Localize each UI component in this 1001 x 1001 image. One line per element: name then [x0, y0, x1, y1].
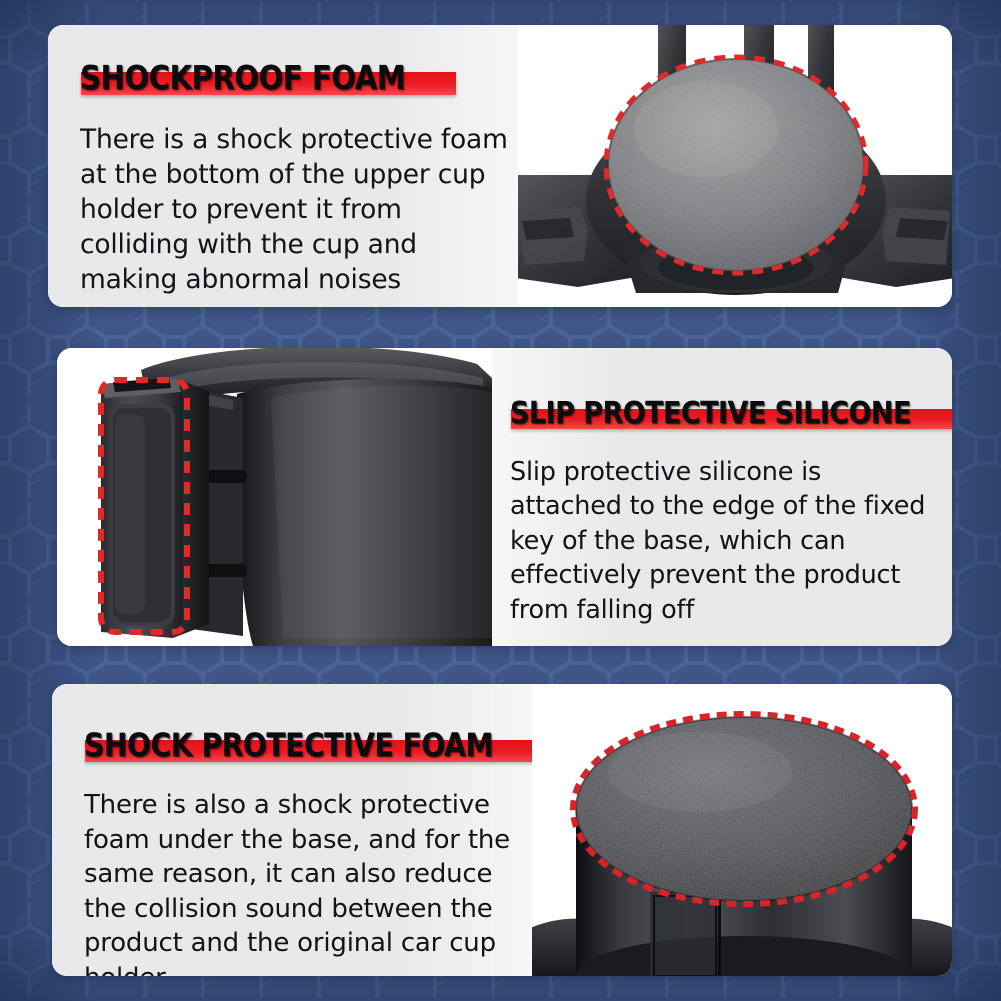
- feature-card-slip-protective-silicone: SLIP PROTECTIVE SILICONE Slip protective…: [57, 348, 952, 646]
- feature-heading: SHOCKPROOF FOAM: [80, 58, 450, 97]
- feature-text-pane: SHOCK PROTECTIVE FOAM There is also a sh…: [52, 684, 532, 976]
- feature-body: Slip protective silicone is attached to …: [510, 455, 928, 627]
- feature-card-shock-protective-foam: SHOCK PROTECTIVE FOAM There is also a sh…: [52, 684, 952, 976]
- feature-body: There is a shock protective foam at the …: [80, 123, 518, 298]
- feature-body-text: There is also a shock protective foam un…: [84, 788, 532, 976]
- feature-text-pane: SLIP PROTECTIVE SILICONE Slip protective…: [492, 348, 952, 646]
- base-fixed-key-silicone-photo: [57, 348, 492, 646]
- feature-body-text: There is a shock protective foam at the …: [80, 123, 518, 298]
- feature-heading-text: SLIP PROTECTIVE SILICONE: [510, 396, 911, 431]
- feature-heading: SHOCK PROTECTIVE FOAM: [84, 726, 549, 764]
- feature-heading: SLIP PROTECTIVE SILICONE: [510, 396, 952, 431]
- feature-text-pane: SHOCKPROOF FOAM There is a shock protect…: [48, 25, 518, 307]
- feature-card-shockproof-foam: SHOCKPROOF FOAM There is a shock protect…: [48, 25, 952, 307]
- feature-heading-text: SHOCK PROTECTIVE FOAM: [84, 726, 493, 764]
- feature-body-text: Slip protective silicone is attached to …: [510, 455, 928, 627]
- upper-cup-holder-foam-photo: [518, 25, 952, 307]
- base-underside-foam-photo: [532, 684, 952, 976]
- feature-body: There is also a shock protective foam un…: [84, 788, 532, 976]
- feature-heading-text: SHOCKPROOF FOAM: [80, 58, 405, 97]
